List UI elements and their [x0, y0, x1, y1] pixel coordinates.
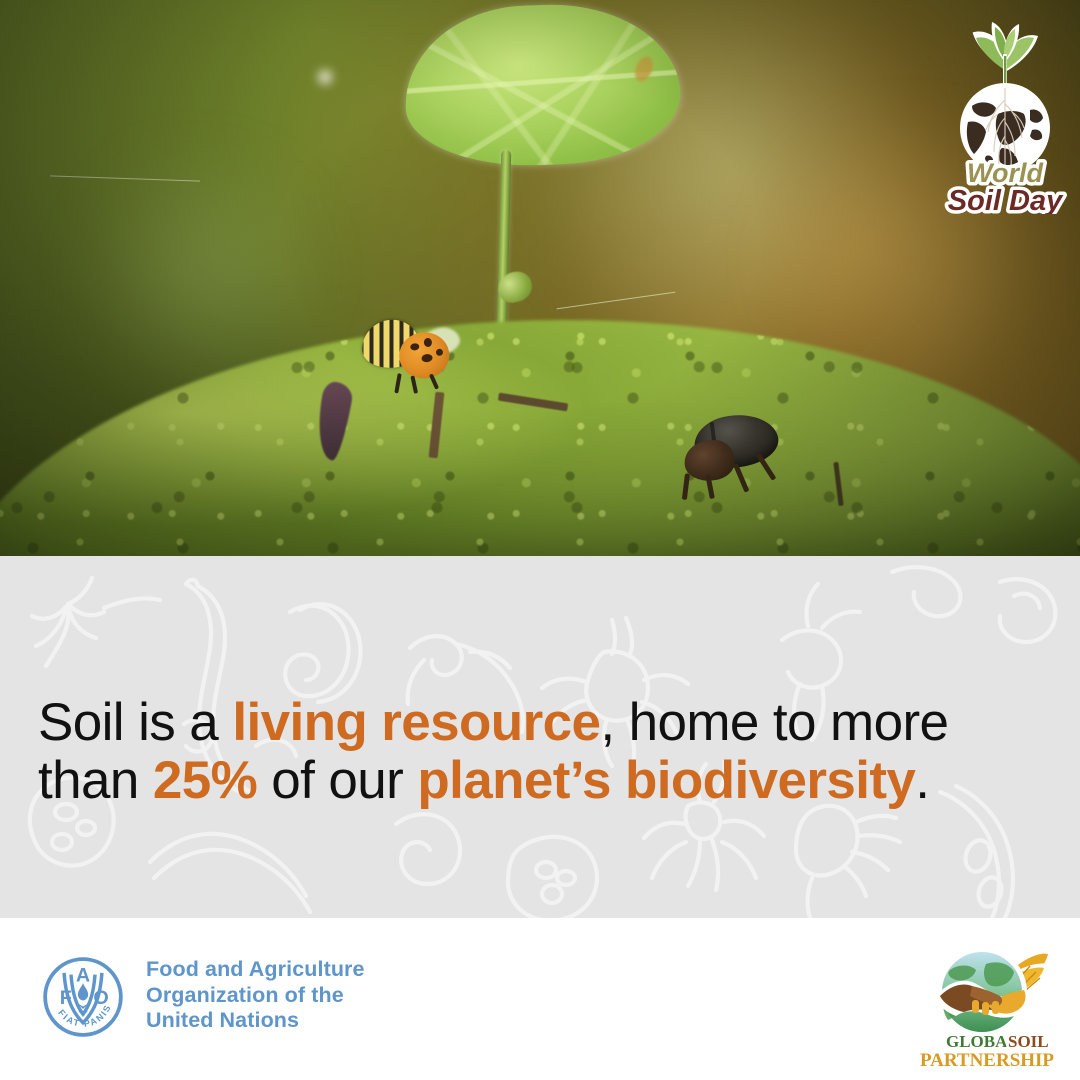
hero-photo	[0, 0, 1080, 640]
fao-line-2: Organization of the	[146, 983, 365, 1009]
fao-line-3: United Nations	[146, 1008, 365, 1034]
world-soil-day-poster: World World Soil Day Soil Day	[0, 0, 1080, 1080]
gsp-soil: SOIL	[1008, 1032, 1049, 1051]
fao-emblem-icon: F A O FIAT PANIS	[40, 954, 126, 1040]
sprout-icon	[973, 22, 1038, 88]
global-soil-partnership-logo[interactable]: GLOBAL GLOBAL SOIL SOIL PARTNERSHIP PART…	[912, 930, 1062, 1072]
footer: F A O FIAT PANIS Food and Agriculture Or…	[0, 918, 1080, 1080]
headline-part-3: of our	[257, 751, 417, 810]
headline-highlight-1: living resource	[232, 693, 600, 752]
world-soil-day-logo: World World Soil Day Soil Day	[942, 14, 1068, 214]
headline-part-4: .	[915, 751, 929, 810]
wsd-line2: Soil Day	[948, 185, 1064, 214]
headline-highlight-2: 25%	[153, 751, 257, 810]
headline: Soil is a living resource, home to more …	[38, 694, 1038, 810]
gsp-partnership: PARTNERSHIP	[920, 1050, 1054, 1071]
fao-wordmark: Food and Agriculture Organization of the…	[146, 954, 365, 1034]
fao-logo[interactable]: F A O FIAT PANIS Food and Agriculture Or…	[40, 954, 365, 1040]
world-soil-day-logo-svg: World World Soil Day Soil Day	[942, 14, 1068, 214]
svg-text:F: F	[60, 987, 72, 1009]
svg-text:A: A	[76, 965, 90, 987]
gsp-logo-svg: GLOBAL GLOBAL SOIL SOIL PARTNERSHIP PART…	[912, 930, 1062, 1072]
photo-vignette	[0, 0, 1080, 640]
wsd-line1: World	[967, 158, 1043, 188]
fao-line-1: Food and Agriculture	[146, 957, 365, 983]
headline-part-1: Soil is a	[38, 693, 232, 752]
headline-highlight-3: planet’s biodiversity	[417, 751, 915, 810]
